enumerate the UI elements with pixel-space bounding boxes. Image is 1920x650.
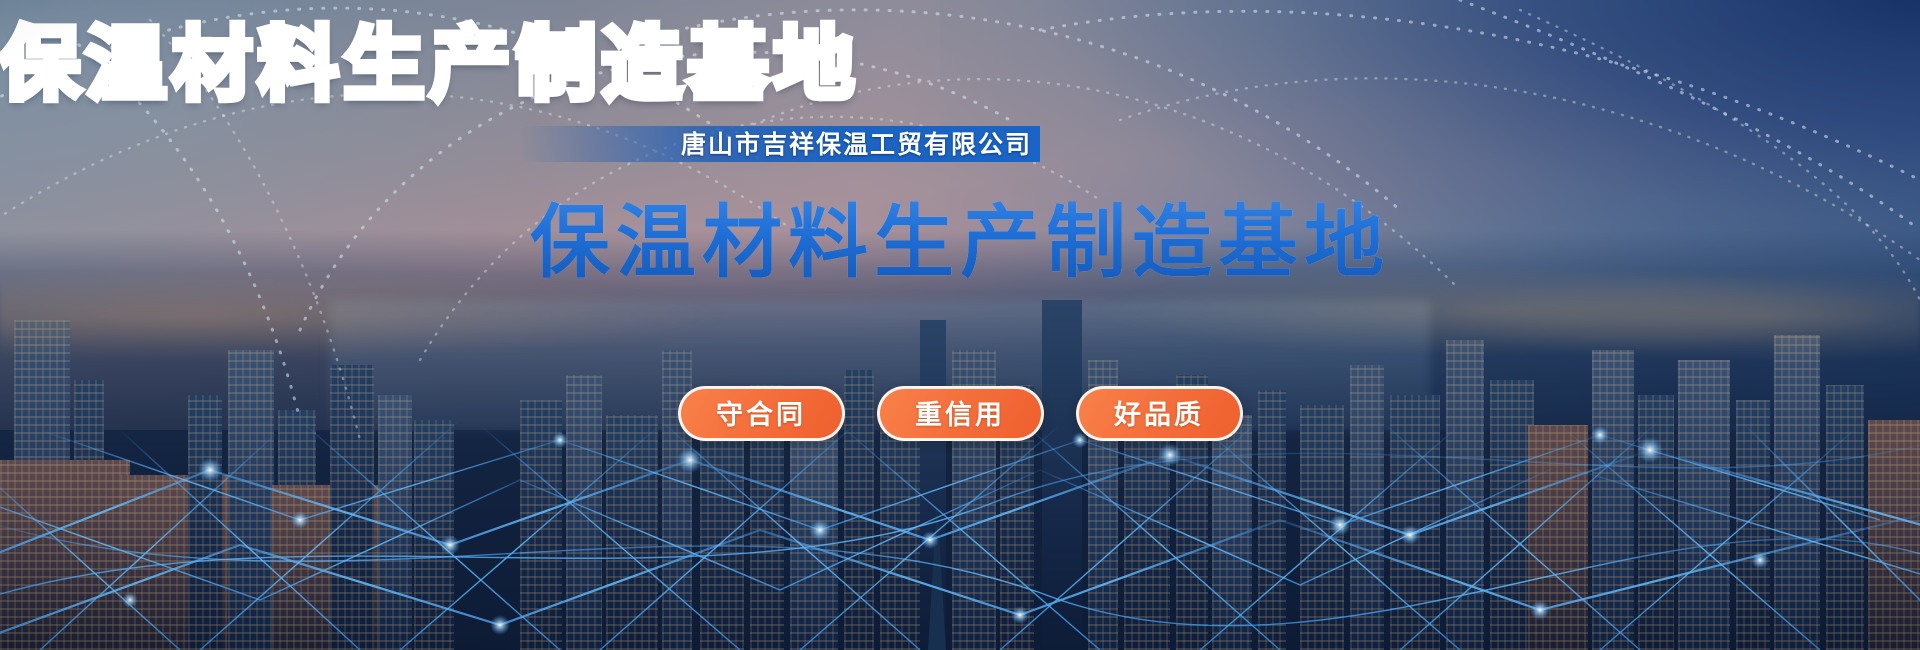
hero-banner: .arc{fill:none;stroke:#dce9f5;stroke-opa… <box>0 0 1920 650</box>
company-name-text: 唐山市吉祥保温工贸有限公司 <box>681 125 1032 161</box>
badge-list: 守合同 重信用 好品质 <box>0 386 1920 441</box>
headline-outline-layer: 保温材料生产制造基地 <box>0 0 1920 116</box>
company-name-bar: 唐山市吉祥保温工贸有限公司 <box>520 126 1040 162</box>
headline: 保温材料生产制造基地 <box>0 178 1920 294</box>
headline-text: 保温材料生产制造基地 <box>530 178 1390 294</box>
badge-hao-pin-zhi[interactable]: 好品质 <box>1076 386 1243 441</box>
badge-zhong-xin-yong[interactable]: 重信用 <box>877 386 1044 441</box>
headline-outline-text: 保温材料生产制造基地 <box>0 0 860 116</box>
badge-label: 重信用 <box>915 393 1005 432</box>
badge-label: 好品质 <box>1114 393 1204 432</box>
badge-shou-he-tong[interactable]: 守合同 <box>678 386 845 441</box>
badge-label: 守合同 <box>716 393 806 432</box>
